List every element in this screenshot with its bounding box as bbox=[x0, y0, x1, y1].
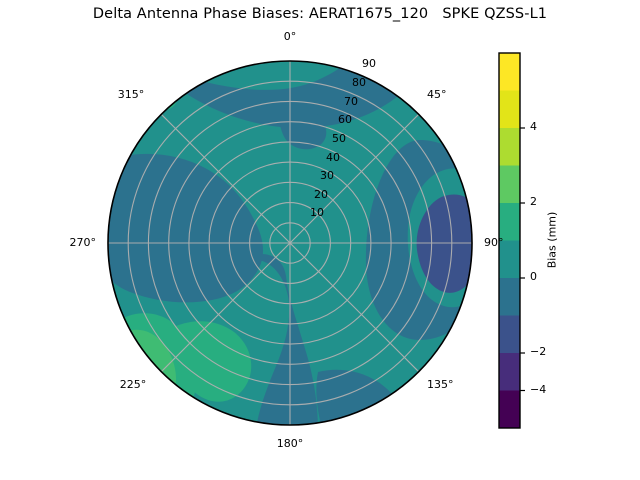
cbar-seg-6 bbox=[499, 203, 520, 241]
theta-tick-45: 45° bbox=[427, 88, 447, 101]
cbar-tick-label-0: 0 bbox=[530, 270, 537, 283]
theta-tick-315: 315° bbox=[118, 88, 145, 101]
r-tick-50: 50 bbox=[332, 132, 346, 145]
r-tick-40: 40 bbox=[326, 151, 340, 164]
polar-grid bbox=[108, 61, 472, 425]
cbar-tick-label-neg4: −4 bbox=[530, 383, 546, 396]
figure-canvas: Delta Antenna Phase Biases: AERAT1675_12… bbox=[0, 0, 640, 480]
cbar-tick-label-4: 4 bbox=[530, 120, 537, 133]
cbar-seg-10 bbox=[499, 53, 520, 91]
theta-tick-135: 135° bbox=[427, 378, 454, 391]
cbar-seg-7 bbox=[499, 166, 520, 204]
cbar-tick-label-neg2: −2 bbox=[530, 345, 546, 358]
theta-tick-225: 225° bbox=[120, 378, 147, 391]
colorbar-axis-label: Bias (mm) bbox=[546, 212, 559, 269]
cbar-tick-label-2: 2 bbox=[530, 195, 537, 208]
r-tick-70: 70 bbox=[344, 95, 358, 108]
r-tick-60: 60 bbox=[338, 113, 352, 126]
polar-plot-svg bbox=[0, 0, 640, 480]
theta-tick-180: 180° bbox=[277, 437, 304, 450]
r-tick-80: 80 bbox=[352, 76, 366, 89]
r-tick-90: 90 bbox=[362, 57, 376, 70]
colorbar-ticks bbox=[520, 128, 525, 391]
chart-title: Delta Antenna Phase Biases: AERAT1675_12… bbox=[0, 6, 640, 22]
cbar-seg-8 bbox=[499, 128, 520, 166]
theta-tick-0: 0° bbox=[284, 30, 297, 43]
theta-tick-270: 270° bbox=[70, 236, 97, 249]
cbar-seg-3 bbox=[499, 316, 520, 354]
cbar-seg-2 bbox=[499, 353, 520, 391]
r-tick-10: 10 bbox=[310, 206, 324, 219]
theta-tick-90: 90° bbox=[484, 236, 504, 249]
contour-band-green-west-rim bbox=[94, 150, 108, 244]
cbar-seg-9 bbox=[499, 91, 520, 129]
contour-field bbox=[94, 48, 482, 430]
r-tick-20: 20 bbox=[314, 188, 328, 201]
cbar-seg-4 bbox=[499, 278, 520, 316]
cbar-seg-1 bbox=[499, 391, 520, 429]
r-tick-30: 30 bbox=[320, 169, 334, 182]
